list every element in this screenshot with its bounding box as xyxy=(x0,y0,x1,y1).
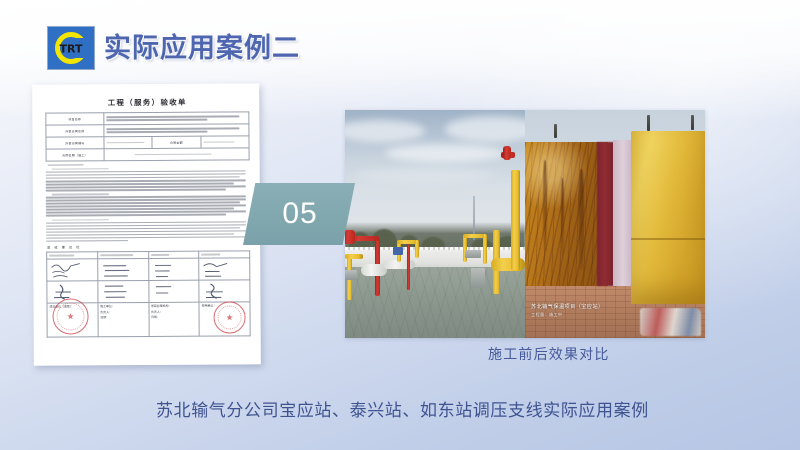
valve-handwheel xyxy=(345,230,355,244)
handwriting-mark xyxy=(202,281,248,300)
field-label: 合同日期（施工） xyxy=(46,149,104,161)
field-value xyxy=(104,148,249,161)
red-seal-stamp xyxy=(213,301,245,333)
document-paragraph-2 xyxy=(46,192,250,216)
rust-streak xyxy=(579,169,584,269)
document-title: 工程（服务）验收单 xyxy=(45,96,249,108)
handwriting-mark xyxy=(49,260,95,279)
field-label: 项目名称 xyxy=(46,113,104,125)
control-box-blue xyxy=(393,247,403,255)
table-row xyxy=(47,258,250,281)
rust-streak xyxy=(543,160,547,251)
seal-cell-contractor: 施工单位： 负责人： 日期： xyxy=(98,302,149,336)
handwriting-mark xyxy=(100,260,146,279)
handwriting-mark xyxy=(100,282,146,301)
signature-cell xyxy=(47,259,98,281)
field-value xyxy=(104,112,249,125)
signature-table: 建设单位（盖章）： 施工单位： 负责人： 日期： 项目监理机构： 负责人： 日期… xyxy=(46,250,251,337)
document-header-table: 项目名称 外置合同名称 外置合同编号 xyxy=(45,111,249,161)
pipe-red xyxy=(407,244,410,290)
seal-cell-user: 使用单位： xyxy=(199,302,250,336)
bolt xyxy=(691,115,694,130)
field-value xyxy=(201,136,249,148)
step-number-badge: 05 xyxy=(243,183,355,245)
handwriting-mark xyxy=(151,282,197,301)
signature-cell xyxy=(97,258,148,280)
instrument-cabinet xyxy=(471,268,485,288)
document-body: 工程（服务）验收单 项目名称 外置合同名称 xyxy=(45,92,251,356)
table-row: 建设单位（盖章）： 施工单位： 负责人： 日期： 项目监理机构： 负责人： 日期… xyxy=(47,302,250,337)
footer-field: 日期： xyxy=(151,315,197,321)
field-label: 外置合同名称 xyxy=(46,125,104,137)
pipe-yellow xyxy=(415,240,419,258)
rust-streak xyxy=(561,178,564,256)
instrument-box xyxy=(465,250,481,258)
seal-cell-supervisor: 项目监理机构： 负责人： 日期： xyxy=(148,302,199,336)
trt-logo: TRT xyxy=(47,26,95,70)
photo-gas-regulating-station[interactable] xyxy=(345,110,525,338)
instrument-box xyxy=(345,270,357,280)
signature-cell xyxy=(199,258,250,280)
corroded-pipe-before xyxy=(525,142,608,286)
bolt xyxy=(554,124,557,138)
coated-pipe-after xyxy=(631,131,705,304)
field-label: 外置合同编号 xyxy=(46,137,104,149)
photo-strip-caption: 施工前后效果对比 xyxy=(488,344,610,364)
slide-bottom-title: 苏北输气分公司宝应站、泰兴站、如东站调压支线实际应用案例 xyxy=(156,396,649,421)
signature-cell xyxy=(98,280,149,302)
acceptance-form-image[interactable]: 工程（服务）验收单 项目名称 外置合同名称 xyxy=(32,83,261,365)
pipe-yellow xyxy=(345,254,363,259)
slide-canvas: TRT 实际应用案例二 工程（服务）验收单 项目名称 外置合同名称 xyxy=(0,0,800,450)
photo-coating-before-after[interactable]: 苏北输气保温项目（宝应站） 工程量：施工中 xyxy=(525,110,705,338)
footer-field: 日期： xyxy=(100,315,146,321)
pipe-yellow-riser xyxy=(511,170,520,270)
handwriting-mark xyxy=(151,260,197,279)
field-label: 合同金额 xyxy=(152,136,200,148)
pipe-yellow xyxy=(463,236,467,262)
seal-cell-construction: 建设单位（盖章）： xyxy=(47,303,98,337)
slide-header: TRT 实际应用案例二 xyxy=(47,26,300,70)
document-paragraph-3 xyxy=(46,218,250,242)
handwriting-mark xyxy=(201,259,247,278)
red-seal-stamp xyxy=(52,298,88,334)
signature-cell xyxy=(148,280,199,302)
field-value xyxy=(104,124,249,137)
cloud xyxy=(385,144,505,162)
document-paragraph-1 xyxy=(46,167,250,191)
signature-block-label: 验 收 意 见 栏 xyxy=(47,244,250,250)
bolt xyxy=(647,115,650,131)
signature-cell xyxy=(148,258,199,280)
svg-text:TRT: TRT xyxy=(60,43,83,56)
pipe-yellow xyxy=(483,234,487,264)
document-section-verify xyxy=(48,163,250,166)
page-title: 实际应用案例二 xyxy=(104,35,300,62)
pipe-seam xyxy=(631,238,705,240)
table-row: 合同日期（施工） xyxy=(46,148,249,161)
photo-strip: 苏北输气保温项目（宝应站） 工程量：施工中 xyxy=(345,110,705,338)
signature-cell xyxy=(199,280,250,302)
step-number-value: 05 xyxy=(280,199,317,229)
cloud xyxy=(355,168,495,182)
tarp-debris xyxy=(640,308,701,335)
valve-handwheel xyxy=(503,146,511,160)
field-value xyxy=(104,136,152,148)
